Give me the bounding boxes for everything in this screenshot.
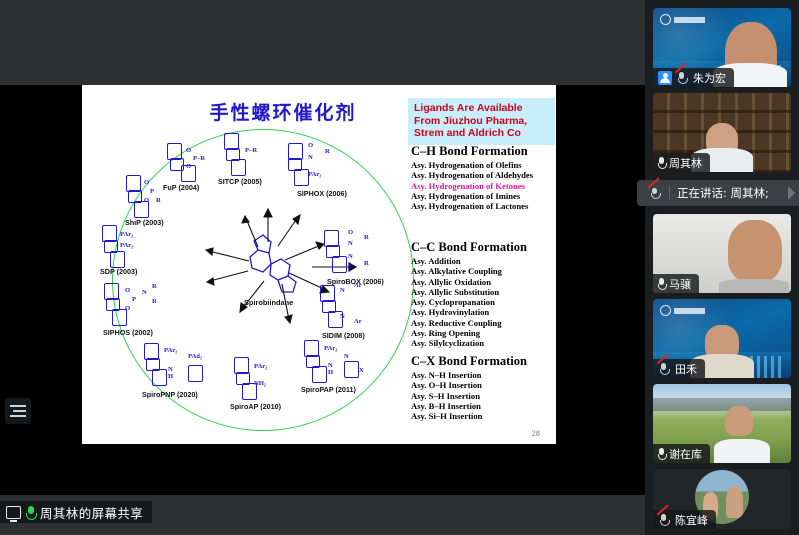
microphone-icon xyxy=(658,157,665,168)
reaction-item: Asy. O–H Insertion xyxy=(411,380,527,390)
reaction-item: Asy. B–H Insertion xyxy=(411,401,527,411)
participant-video-body xyxy=(719,279,789,293)
nameplate: 田禾 xyxy=(653,359,705,378)
slide-page-number: 28 xyxy=(532,428,541,438)
nameplate: 马骧 xyxy=(653,274,699,293)
reaction-item: Asy. Hydrovinylation xyxy=(411,307,527,317)
chevron-right-icon[interactable] xyxy=(788,186,795,200)
microphone-muted-icon xyxy=(676,72,689,84)
participant-tile-3[interactable]: 田禾 xyxy=(653,299,791,378)
participant-video-face xyxy=(725,406,753,436)
reaction-item: Asy. Allylic Oxidation xyxy=(411,277,527,287)
share-status-bar: 周其林的屏幕共享 xyxy=(0,501,152,523)
participant-tile-0[interactable]: 朱为宏 xyxy=(653,8,791,87)
reaction-item-highlighted: Asy. Hydrogenation of Ketones xyxy=(411,181,533,191)
reaction-item: Asy. S–H Insertion xyxy=(411,391,527,401)
user-avatar-icon xyxy=(658,71,672,85)
reaction-item: Asy. Allylic Substitution xyxy=(411,287,527,297)
microphone-icon xyxy=(26,506,35,519)
reaction-item: Asy. Hydrogenation of Aldehydes xyxy=(411,170,533,180)
reaction-item: Asy. Hydrogenation of Olefins xyxy=(411,160,533,170)
menu-button[interactable] xyxy=(5,398,31,424)
reaction-item: Asy. Reductive Coupling xyxy=(411,318,527,328)
reaction-item: Asy. Alkylative Coupling xyxy=(411,266,527,276)
center-structure-label: Spirobiindane xyxy=(244,298,293,307)
microphone-muted-icon xyxy=(649,187,662,199)
participant-tile-1[interactable]: 周其林 xyxy=(653,93,791,172)
participant-video-face xyxy=(728,220,782,282)
participant-name: 陈宜峰 xyxy=(675,512,708,528)
reaction-item: Asy. Cyclopropanation xyxy=(411,297,527,307)
participant-name: 谢在库 xyxy=(669,446,702,462)
participant-tile-4[interactable]: 谢在库 xyxy=(653,384,791,463)
list-icon xyxy=(10,405,26,417)
participant-name: 朱为宏 xyxy=(693,70,726,86)
divider xyxy=(669,186,670,200)
screen-share-icon xyxy=(6,506,21,519)
university-logo xyxy=(660,305,718,316)
nameplate: 陈宜峰 xyxy=(653,510,716,529)
slide-title: 手性螺环催化剂 xyxy=(178,98,388,125)
university-logo xyxy=(660,14,718,25)
share-status-label: 周其林的屏幕共享 xyxy=(40,503,143,522)
microphone-muted-icon xyxy=(658,514,671,526)
participant-video-body xyxy=(714,439,770,463)
ligand-box-line-2: From Jiuzhou Pharma, xyxy=(414,115,550,128)
participant-tile-5[interactable]: 陈宜峰 xyxy=(653,469,791,529)
section-ch-bond: C–H Bond Formation Asy. Hydrogenation of… xyxy=(411,144,533,211)
ligand-box-line-1: Ligands Are Available xyxy=(414,102,550,115)
participant-name: 周其林 xyxy=(669,155,702,171)
reaction-item: Asy. Ring Opening xyxy=(411,328,527,338)
microphone-muted-icon xyxy=(658,363,671,375)
reaction-item: Asy. Hydrogenation of Lactones xyxy=(411,201,533,211)
reaction-item: Asy. Si–H Insertion xyxy=(411,411,527,421)
reaction-item: Asy. Hydrogenation of Imines xyxy=(411,191,533,201)
participant-name: 田禾 xyxy=(675,361,697,377)
active-speaker-label: 正在讲话: 周其林; xyxy=(677,185,769,201)
microphone-icon xyxy=(658,278,665,289)
ligand-box-line-3: Strem and Aldrich Co xyxy=(414,127,550,140)
nameplate: 周其林 xyxy=(653,153,710,172)
reaction-item: Asy. Silylcyclization xyxy=(411,338,527,348)
shared-slide: 手性螺环催化剂 Ligands Are Available From Jiuzh… xyxy=(82,85,556,444)
nameplate: 朱为宏 xyxy=(653,68,734,87)
section-heading: C–H Bond Formation xyxy=(411,144,533,159)
reaction-item: Asy. N–H Insertion xyxy=(411,370,527,380)
section-heading: C–C Bond Formation xyxy=(411,240,527,255)
section-cc-bond: C–C Bond Formation Asy. Addition Asy. Al… xyxy=(411,240,527,349)
section-heading: C–X Bond Formation xyxy=(411,354,527,369)
participant-name: 马骧 xyxy=(669,276,691,292)
participant-strip[interactable]: 朱为宏 周其林 马骧 xyxy=(645,0,799,535)
active-speaker-banner[interactable]: 正在讲话: 周其林; xyxy=(637,180,799,206)
ligand-availability-box: Ligands Are Available From Jiuzhou Pharm… xyxy=(408,98,555,145)
participant-tile-2[interactable]: 马骧 xyxy=(653,214,791,293)
nameplate: 谢在库 xyxy=(653,444,710,463)
microphone-icon xyxy=(658,448,665,459)
section-cx-bond: C–X Bond Formation Asy. N–H Insertion As… xyxy=(411,354,527,421)
zoom-meeting-window: 手性螺环催化剂 Ligands Are Available From Jiuzh… xyxy=(0,0,799,535)
screen-share-stage: 手性螺环催化剂 Ligands Are Available From Jiuzh… xyxy=(0,0,645,535)
reaction-item: Asy. Addition xyxy=(411,256,527,266)
